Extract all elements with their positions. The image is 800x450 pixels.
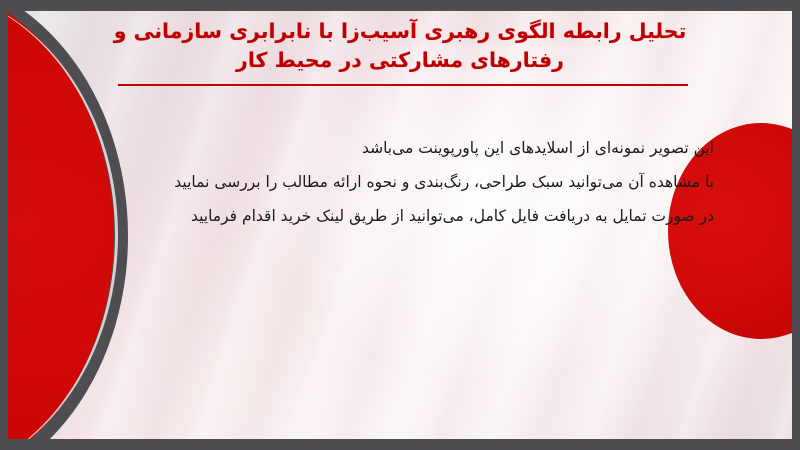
slide-canvas: تحلیل رابطه الگوی رهبری آسیب‌زا با نابرا… bbox=[0, 0, 800, 450]
slide-title: تحلیل رابطه الگوی رهبری آسیب‌زا با نابرا… bbox=[100, 17, 700, 75]
slide-title-line-2: رفتارهای مشارکتی در محیط کار bbox=[100, 46, 700, 75]
slide-body: این تصویر نمونه‌ای از اسلایدهای این پاور… bbox=[114, 131, 714, 233]
slide-frame-bottom bbox=[0, 438, 800, 450]
slide-title-line-1: تحلیل رابطه الگوی رهبری آسیب‌زا با نابرا… bbox=[100, 17, 700, 46]
slide-body-line-1: این تصویر نمونه‌ای از اسلایدهای این پاور… bbox=[114, 131, 714, 165]
title-underline-rule bbox=[118, 84, 688, 86]
slide-page-surface: تحلیل رابطه الگوی رهبری آسیب‌زا با نابرا… bbox=[8, 11, 792, 439]
left-lens-shape bbox=[8, 11, 114, 439]
slide-body-line-3: در صورت تمایل به دریافت فایل کامل، می‌تو… bbox=[114, 199, 714, 233]
slide-frame-left bbox=[0, 0, 8, 450]
slide-frame-right bbox=[792, 0, 800, 450]
slide-body-line-2: با مشاهده آن می‌توانید سبک طراحی، رنگ‌بن… bbox=[114, 165, 714, 199]
